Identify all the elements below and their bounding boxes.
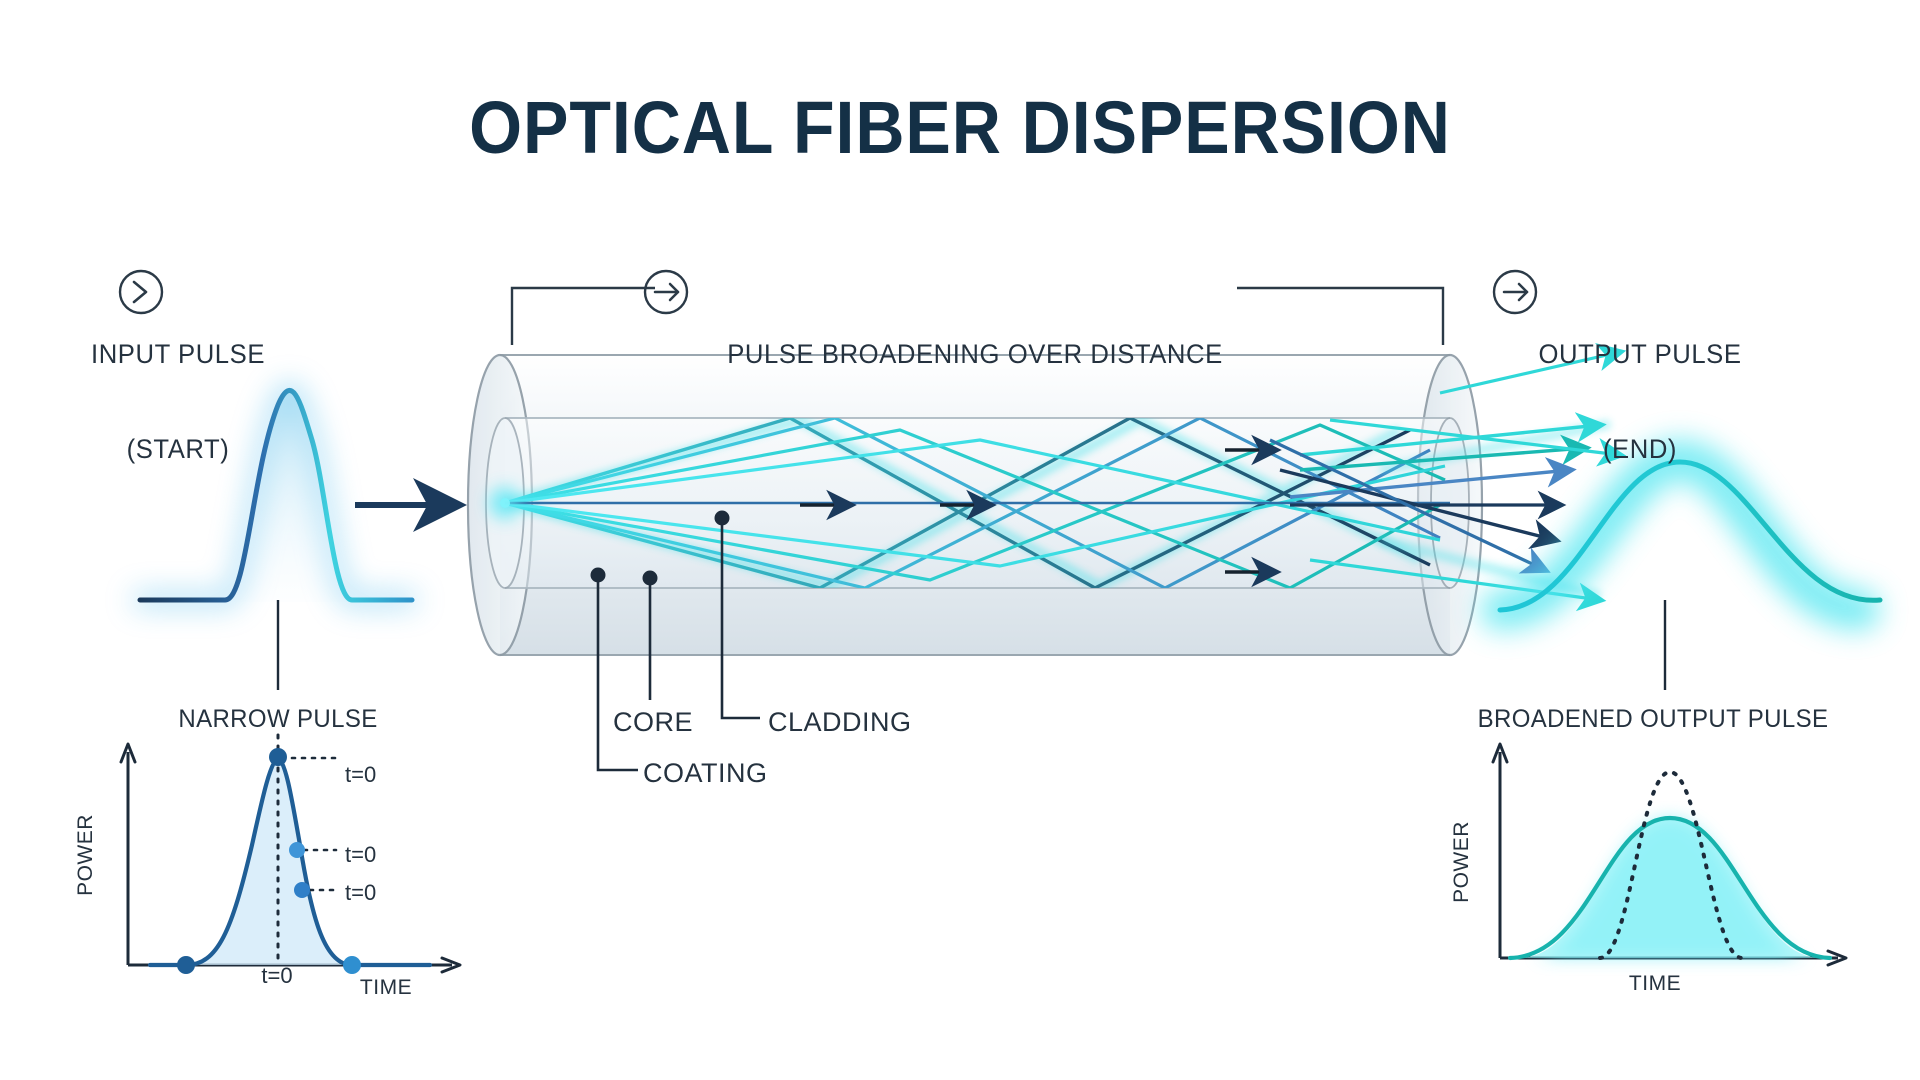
- header-bracket-left: [512, 288, 655, 345]
- page-title: OPTICAL FIBER DISPERSION: [77, 85, 1843, 170]
- broadened-pulse-chart: [1493, 744, 1846, 965]
- label-core: CORE: [613, 707, 693, 738]
- broadened-pulse-chart-title: BROADENED OUTPUT PULSE: [1478, 705, 1829, 734]
- broadened-pulse-xlabel: TIME: [1629, 972, 1681, 996]
- annotation-t0-lower-flank: t=0: [345, 880, 376, 906]
- annotation-t0-peak: t=0: [345, 762, 376, 788]
- narrow-pulse-chart: [121, 735, 460, 974]
- header-pulse-broadening: PULSE BROADENING OVER DISTANCE: [727, 275, 1223, 434]
- label-coating: COATING: [643, 758, 768, 789]
- header-output-pulse-line1: OUTPUT PULSE: [1538, 339, 1741, 371]
- circle-arrow-right-icon-middle: [645, 271, 687, 313]
- broadened-pulse-ylabel: POWER: [1450, 821, 1474, 903]
- narrow-pulse-xlabel: TIME: [360, 976, 412, 1000]
- entry-glow: [489, 487, 521, 519]
- label-cladding: CLADDING: [768, 707, 912, 738]
- narrow-pulse-ylabel: POWER: [74, 814, 98, 896]
- header-input-pulse: INPUT PULSE (START): [91, 275, 265, 530]
- header-bracket-right: [1237, 288, 1443, 345]
- header-output-pulse-line2: (END): [1538, 434, 1741, 466]
- narrow-pulse-chart-title: NARROW PULSE: [178, 705, 377, 734]
- header-input-pulse-line2: (START): [91, 434, 265, 466]
- annotation-t0-upper-flank: t=0: [345, 842, 376, 868]
- header-pulse-broadening-line1: PULSE BROADENING OVER DISTANCE: [727, 339, 1223, 371]
- header-input-pulse-line1: INPUT PULSE: [91, 339, 265, 371]
- circle-arrow-right-icon-right: [1494, 271, 1536, 313]
- header-output-pulse: OUTPUT PULSE (END): [1538, 275, 1741, 530]
- annotation-t0-axis: t=0: [261, 963, 292, 989]
